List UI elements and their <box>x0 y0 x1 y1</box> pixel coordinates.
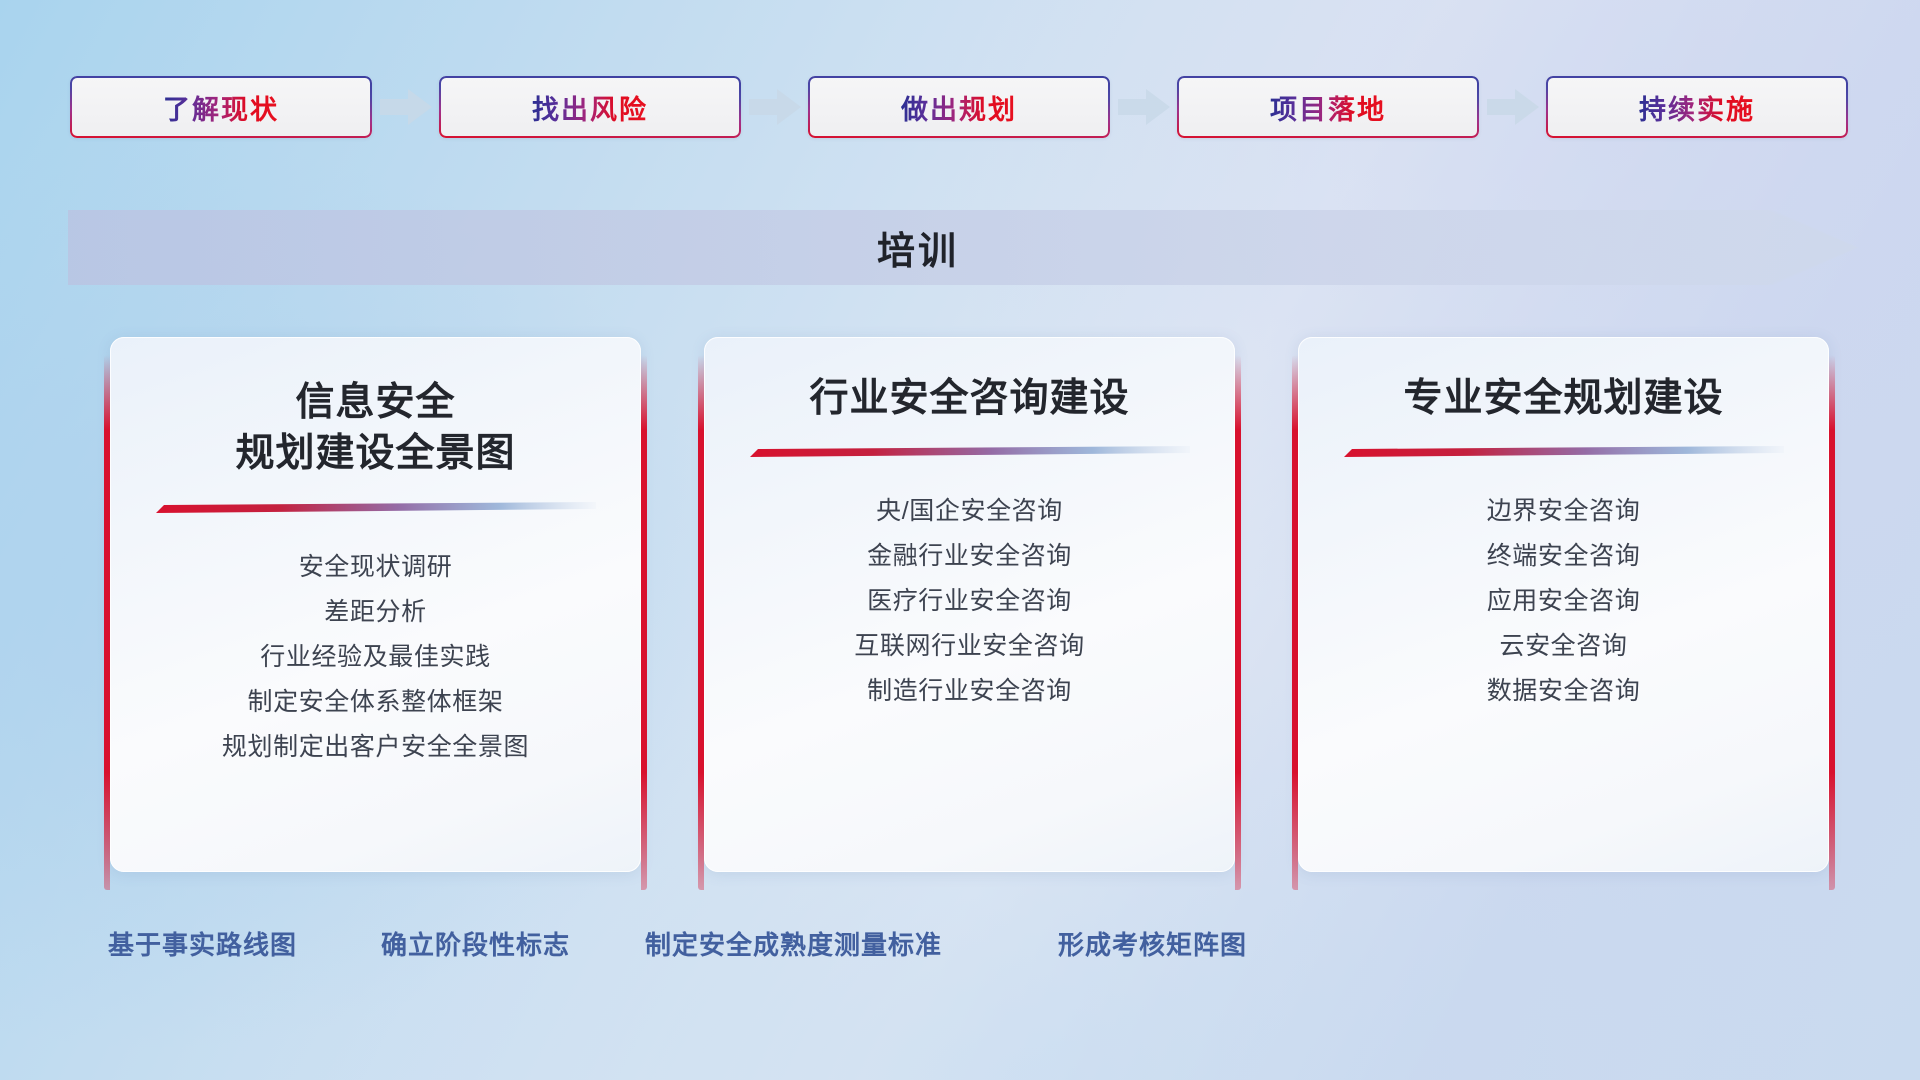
process-step-row: 了解现状 找出风险 做出规划 项目落地 持续实施 <box>70 76 1860 138</box>
card-2-divider <box>750 446 1190 457</box>
card-2-list: 央/国企安全咨询 金融行业安全咨询 医疗行业安全咨询 互联网行业安全咨询 制造行… <box>704 489 1235 714</box>
list-item: 金融行业安全咨询 <box>704 534 1235 579</box>
list-item: 安全现状调研 <box>110 545 641 590</box>
card-1-title: 信息安全 规划建设全景图 <box>110 337 641 480</box>
list-item: 边界安全咨询 <box>1298 489 1829 534</box>
step-box-4[interactable]: 项目落地 <box>1177 76 1479 138</box>
list-item: 云安全咨询 <box>1298 624 1829 669</box>
card-2[interactable]: 行业安全咨询建设 央/国企安全咨询 金融行业安全咨询 医疗行业安全咨 <box>704 337 1235 872</box>
card-2-accent-right <box>1235 355 1241 890</box>
list-item: 差距分析 <box>110 590 641 635</box>
bottom-label-row: 基于事实路线图 确立阶段性标志 制定安全成熟度测量标准 形成考核矩阵图 <box>0 925 1920 969</box>
step-label-5: 持续实施 <box>1639 88 1755 127</box>
list-item: 制造行业安全咨询 <box>704 669 1235 714</box>
card-1-divider <box>156 502 596 513</box>
list-item: 医疗行业安全咨询 <box>704 579 1235 624</box>
card-1[interactable]: 信息安全 规划建设全景图 安全现状调研 差距分析 行业经 <box>110 337 641 872</box>
step-connector-arrow-1 <box>372 87 439 127</box>
card-group: 信息安全 规划建设全景图 安全现状调研 差距分析 行业经 <box>110 337 1830 872</box>
training-band: 培训 <box>68 210 1858 285</box>
step-box-2[interactable]: 找出风险 <box>439 76 741 138</box>
step-label-2: 找出风险 <box>532 88 648 127</box>
bottom-label-3: 制定安全成熟度测量标准 <box>645 925 942 962</box>
card-3-divider <box>1344 446 1784 457</box>
card-3-title-line-1: 专业安全规划建设 <box>1298 373 1829 424</box>
card-2-title-line-1: 行业安全咨询建设 <box>704 373 1235 424</box>
list-item: 制定安全体系整体框架 <box>110 680 641 725</box>
step-connector-arrow-4 <box>1479 87 1546 127</box>
list-item: 行业经验及最佳实践 <box>110 635 641 680</box>
step-connector-arrow-3 <box>1110 87 1177 127</box>
card-3-accent-right <box>1829 355 1835 890</box>
card-3-title: 专业安全规划建设 <box>1298 337 1829 424</box>
list-item: 应用安全咨询 <box>1298 579 1829 624</box>
step-box-1[interactable]: 了解现状 <box>70 76 372 138</box>
step-box-5[interactable]: 持续实施 <box>1546 76 1848 138</box>
step-label-3: 做出规划 <box>901 88 1017 127</box>
card-3-list: 边界安全咨询 终端安全咨询 应用安全咨询 云安全咨询 数据安全咨询 <box>1298 489 1829 714</box>
card-2-title: 行业安全咨询建设 <box>704 337 1235 424</box>
card-1-title-line-1: 信息安全 <box>110 377 641 428</box>
card-1-accent-right <box>641 355 647 890</box>
list-item: 央/国企安全咨询 <box>704 489 1235 534</box>
bottom-label-4: 形成考核矩阵图 <box>1058 925 1247 962</box>
card-1-list: 安全现状调研 差距分析 行业经验及最佳实践 制定安全体系整体框架 规划制定出客户… <box>110 545 641 770</box>
card-3[interactable]: 专业安全规划建设 边界安全咨询 终端安全咨询 应用安全咨询 <box>1298 337 1829 872</box>
step-label-4: 项目落地 <box>1270 88 1386 127</box>
list-item: 规划制定出客户安全全景图 <box>110 725 641 770</box>
list-item: 终端安全咨询 <box>1298 534 1829 579</box>
step-connector-arrow-2 <box>741 87 808 127</box>
step-label-1: 了解现状 <box>163 88 279 127</box>
bottom-label-2: 确立阶段性标志 <box>381 925 570 962</box>
list-item: 互联网行业安全咨询 <box>704 624 1235 669</box>
step-box-3[interactable]: 做出规划 <box>808 76 1110 138</box>
list-item: 数据安全咨询 <box>1298 669 1829 714</box>
bottom-label-1: 基于事实路线图 <box>108 925 297 962</box>
band-title: 培训 <box>68 210 1768 285</box>
card-1-title-line-2: 规划建设全景图 <box>110 428 641 479</box>
